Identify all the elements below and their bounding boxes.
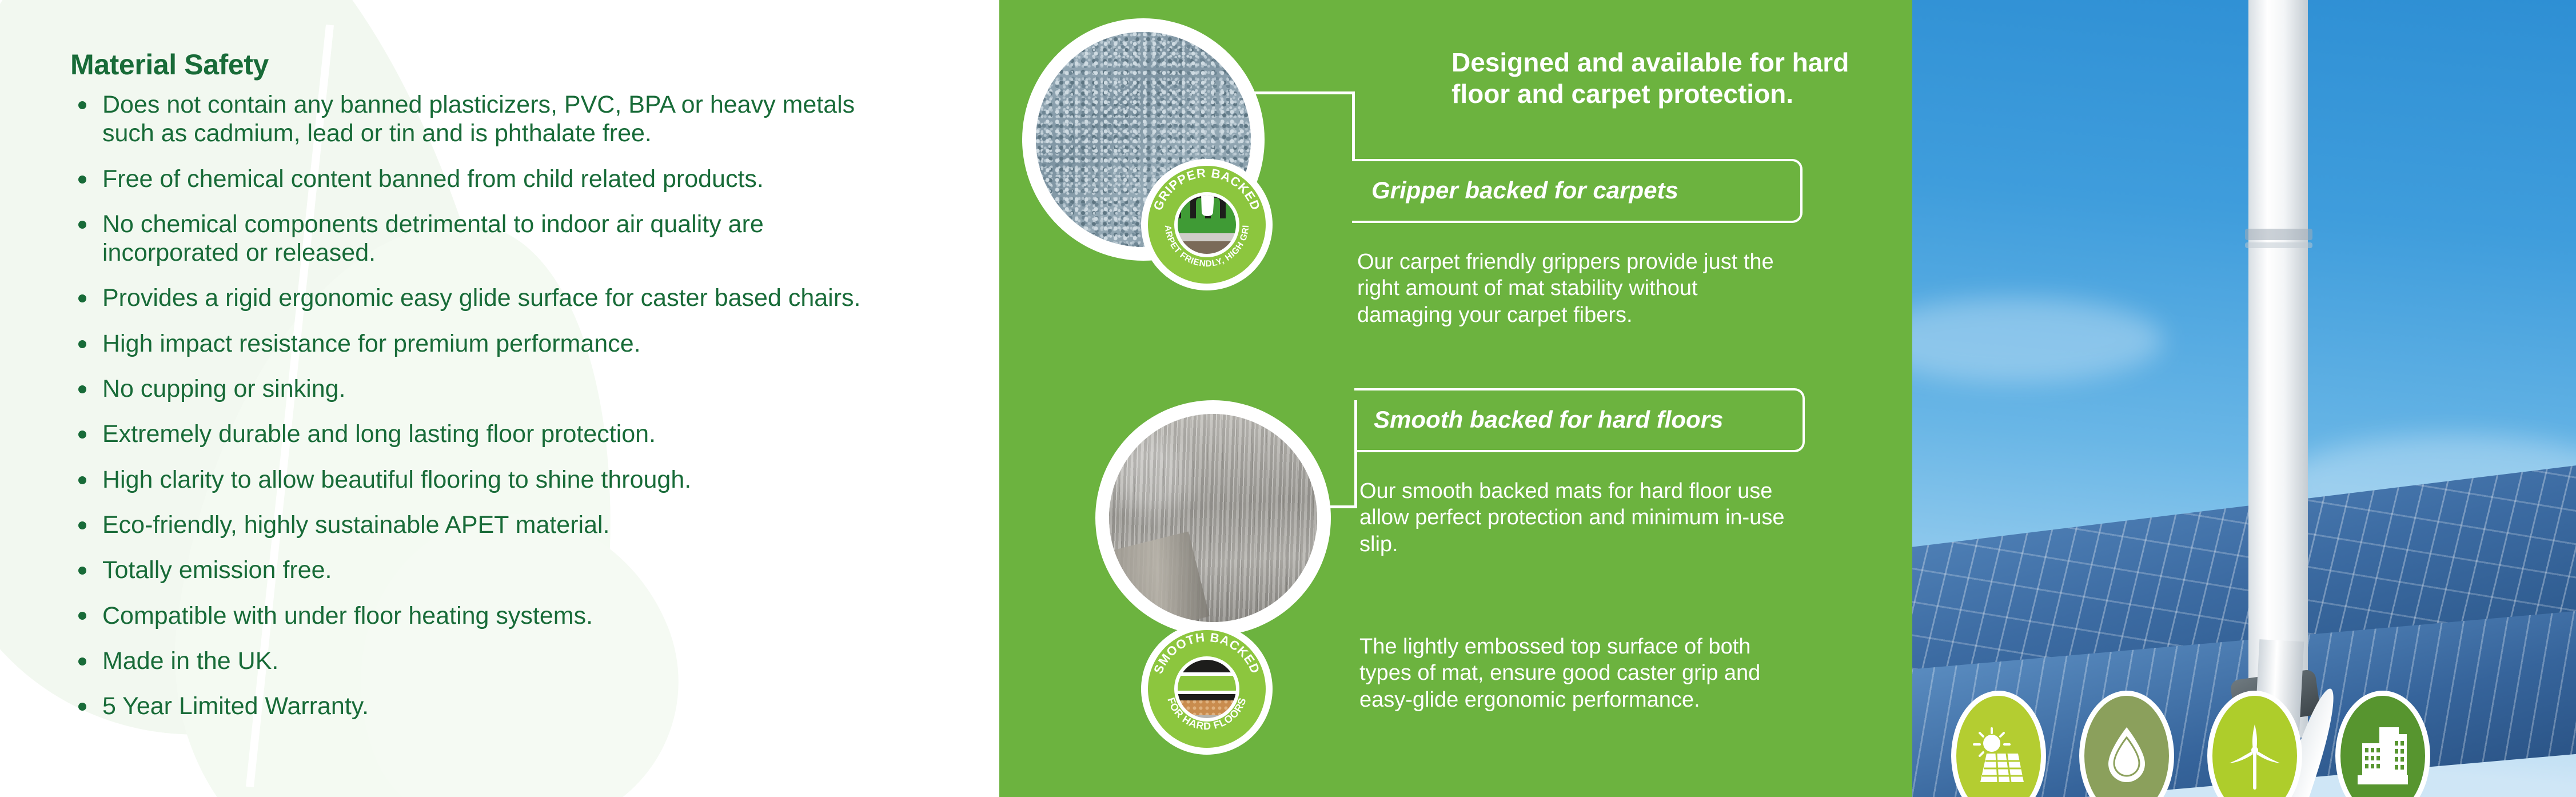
- closing-paragraph: The lightly embossed top surface of both…: [1359, 633, 1805, 713]
- list-item: Provides a rigid ergonomic easy glide su…: [70, 284, 962, 312]
- gripper-label-text: Gripper backed for carpets: [1371, 177, 1678, 204]
- backing-options-panel: GRIPPER BACKED CARPET FRIENDLY, HIGH GRI…: [999, 0, 1912, 797]
- bullet-line: such as cadmium, lead or tin and is phth…: [102, 119, 962, 148]
- list-item: High clarity to allow beautiful flooring…: [70, 465, 962, 494]
- bullet-line: 5 Year Limited Warranty.: [102, 692, 962, 720]
- gripper-backed-badge: GRIPPER BACKED CARPET FRIENDLY, HIGH GRI…: [1141, 159, 1273, 290]
- bullet-dot-icon: [78, 176, 86, 184]
- bullet-dot-icon: [78, 476, 86, 484]
- connector-line-gripper-vertical: [1352, 91, 1355, 161]
- bullet-line: High clarity to allow beautiful flooring…: [102, 465, 962, 494]
- bullet-line: Provides a rigid ergonomic easy glide su…: [102, 284, 962, 312]
- bullet-line: Totally emission free.: [102, 556, 962, 584]
- bullet-dot-icon: [78, 612, 86, 620]
- bullet-line: Free of chemical content banned from chi…: [102, 165, 962, 193]
- eco-badge-solar[interactable]: [1951, 691, 2046, 797]
- smooth-label-text: Smooth backed for hard floors: [1374, 406, 1723, 433]
- bullet-line: Compatible with under floor heating syst…: [102, 601, 962, 630]
- list-item: Totally emission free.: [70, 556, 962, 584]
- bullet-dot-icon: [78, 567, 86, 575]
- bullet-dot-icon: [78, 294, 86, 302]
- bullet-line: Extremely durable and long lasting floor…: [102, 420, 962, 448]
- hard-floor-texture-image: [1109, 414, 1317, 622]
- eco-icon-row: [1912, 603, 2576, 797]
- material-safety-bullet-list: Does not contain any banned plasticizers…: [70, 90, 962, 737]
- bullet-line: High impact resistance for premium perfo…: [102, 329, 962, 358]
- water-droplet-icon: [2103, 725, 2150, 787]
- section-heading: Designed and available for hard floor an…: [1452, 47, 1852, 110]
- bullet-dot-icon: [78, 385, 86, 393]
- list-item: No cupping or sinking.: [70, 374, 962, 403]
- bullet-line: No cupping or sinking.: [102, 374, 962, 403]
- page-title: Material Safety: [70, 48, 269, 81]
- material-safety-panel: Material Safety Does not contain any ban…: [0, 0, 999, 797]
- smooth-label-box: Smooth backed for hard floors: [1354, 388, 1805, 452]
- bullet-line: incorporated or released.: [102, 238, 962, 267]
- eco-photo-panel: [1912, 0, 2576, 797]
- list-item: Compatible with under floor heating syst…: [70, 601, 962, 630]
- bullet-line: No chemical components detrimental to in…: [102, 210, 962, 238]
- bullet-dot-icon: [78, 340, 86, 348]
- list-item: Extremely durable and long lasting floor…: [70, 420, 962, 448]
- smooth-body-text: Our smooth backed mats for hard floor us…: [1359, 478, 1800, 557]
- bullet-dot-icon: [78, 221, 86, 229]
- eco-badge-water[interactable]: [2079, 691, 2174, 797]
- bullet-dot-icon: [78, 101, 86, 109]
- mast-band-decoration: [2245, 229, 2312, 240]
- building-icon: [2354, 726, 2411, 786]
- hard-floor-texture-circle: [1095, 400, 1331, 636]
- smooth-backed-badge: SMOOTH BACKED FOR HARD FLOORS: [1141, 623, 1273, 755]
- list-item: Eco-friendly, highly sustainable APET ma…: [70, 511, 962, 539]
- gripper-label-box: Gripper backed for carpets: [1352, 159, 1803, 223]
- wind-turbine-icon: [2225, 720, 2284, 792]
- list-item: 5 Year Limited Warranty.: [70, 692, 962, 720]
- mast-band-decoration: [2245, 242, 2312, 248]
- bullet-line: Does not contain any banned plasticizers…: [102, 90, 962, 119]
- product-feature-page: Material Safety Does not contain any ban…: [0, 0, 2576, 797]
- solar-panel-icon: [1969, 726, 2028, 786]
- list-item: Free of chemical content banned from chi…: [70, 165, 962, 193]
- bullet-dot-icon: [78, 431, 86, 439]
- list-item: Made in the UK.: [70, 647, 962, 675]
- list-item: Does not contain any banned plasticizers…: [70, 90, 962, 148]
- bullet-dot-icon: [78, 657, 86, 666]
- eco-badge-building[interactable]: [2335, 691, 2430, 797]
- gripper-body-text: Our carpet friendly grippers provide jus…: [1357, 249, 1792, 328]
- bullet-dot-icon: [78, 521, 86, 529]
- cloud-decoration: [1912, 297, 2164, 383]
- bullet-line: Eco-friendly, highly sustainable APET ma…: [102, 511, 962, 539]
- bullet-dot-icon: [78, 703, 86, 711]
- list-item: No chemical components detrimental to in…: [70, 210, 962, 268]
- list-item: High impact resistance for premium perfo…: [70, 329, 962, 358]
- eco-badge-wind[interactable]: [2207, 691, 2302, 797]
- bullet-line: Made in the UK.: [102, 647, 962, 675]
